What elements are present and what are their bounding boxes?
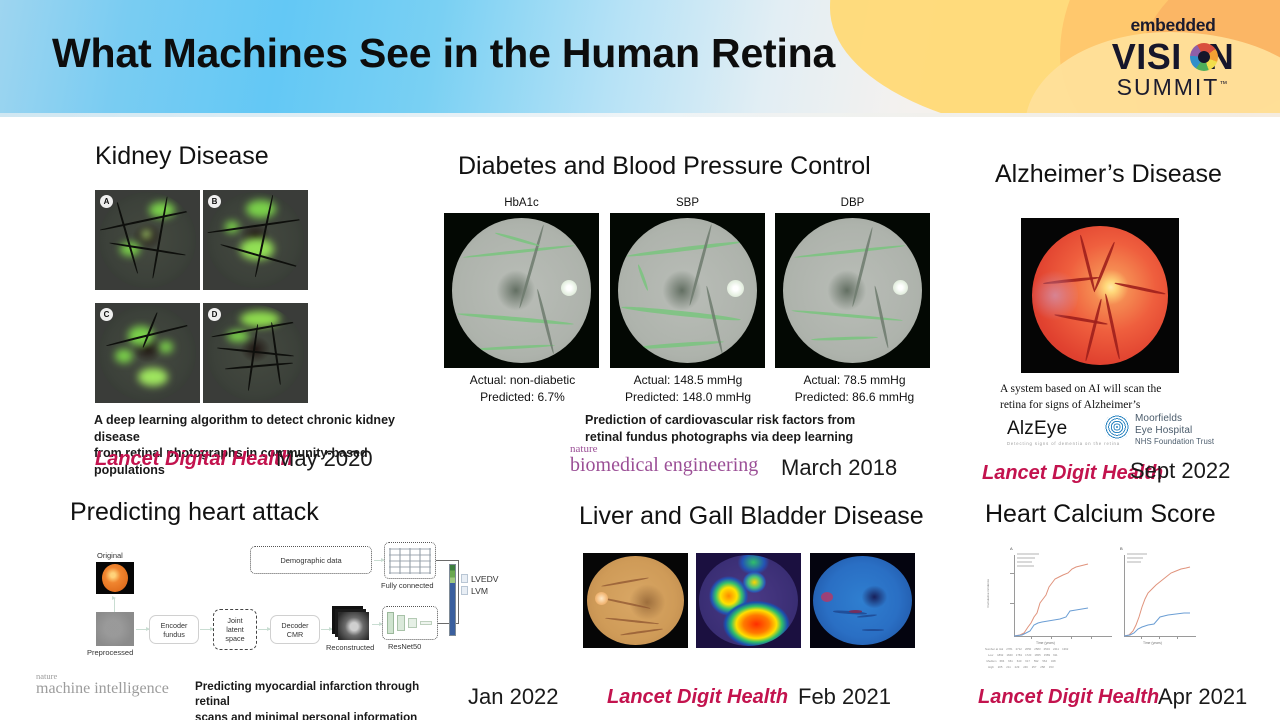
diabetes-caption-line1: Prediction of cardiovascular risk factor…: [585, 412, 915, 429]
kidney-panel-c: C: [95, 303, 200, 403]
liver-fundus-blue: [810, 553, 915, 648]
kidney-panel-b: B: [203, 190, 308, 290]
panel-label-b: B: [208, 195, 221, 208]
alzeye-tagline: Detecting signs of dementia on the retin…: [1007, 441, 1120, 446]
biomedical-engineering-wordmark: biomedical engineering: [570, 455, 758, 476]
liver-date: Feb 2021: [798, 684, 891, 710]
diagram-thumb-reconstructed: [332, 606, 370, 640]
kidney-date: May 2020: [276, 446, 373, 472]
alzheimers-fundus-image: [1021, 218, 1179, 373]
panel-label-a: A: [100, 195, 113, 208]
diagram-label-resnet50: ResNet50: [388, 642, 421, 651]
section-title-liver: Liver and Gall Bladder Disease: [579, 502, 924, 531]
section-title-alzheimers: Alzheimer’s Disease: [995, 160, 1222, 189]
kidney-journal: Lancet Digital Health: [95, 448, 293, 471]
diabetes-fundus-hba1c: [444, 213, 599, 368]
diabetes-actual-sbp: Actual: 148.5 mmHg: [604, 372, 772, 389]
diabetes-actual-hba1c: Actual: non-diabetic: [440, 372, 605, 389]
diagram-label-reconstructed: Reconstructed: [326, 643, 374, 652]
diagram-box-encoder: Encoder fundus: [149, 615, 199, 644]
km-panel-a-label: A: [1010, 546, 1013, 551]
calcium-date: Apr 2021: [1158, 684, 1247, 710]
alzeye-wordmark: AlzEye: [1007, 418, 1120, 440]
alzheimers-date: Sept 2022: [1130, 458, 1230, 484]
moorfields-line1: Moorfields: [1135, 413, 1214, 425]
moorfields-ring-icon: [1104, 414, 1130, 440]
diagram-legend-swatch-lvedv: [461, 574, 468, 583]
km-curves-a: [1014, 555, 1114, 637]
diagram-legend-lvedv: LVEDV: [471, 574, 499, 584]
diabetes-predicted-hba1c: Predicted: 6.7%: [440, 389, 605, 406]
kidney-panel-a: A: [95, 190, 200, 290]
km-panel-b-label: B: [1120, 546, 1123, 551]
diagram-legend-lvm: LVM: [471, 586, 488, 596]
moorfields-logo-text: Moorfields Eye Hospital NHS Foundation T…: [1135, 413, 1214, 446]
diabetes-caption-line2: retinal fundus photographs via deep lear…: [585, 429, 915, 446]
heart-attack-journal-logo: nature machine intelligence: [36, 672, 169, 697]
calcium-journal: Lancet Digit Health: [978, 686, 1159, 709]
heart-attack-caption: Predicting myocardial infarction through…: [195, 679, 457, 720]
diabetes-journal-logo: nature biomedical engineering: [570, 444, 758, 476]
diabetes-fundus-sbp: [610, 213, 765, 368]
diabetes-actual-dbp: Actual: 78.5 mmHg: [772, 372, 937, 389]
diagram-box-resnet50: [382, 606, 438, 640]
header-divider: [0, 113, 1280, 117]
diagram-legend-swatch-lvm: [461, 586, 468, 595]
diagram-output-bar: [449, 564, 456, 636]
diabetes-date: March 2018: [781, 455, 897, 481]
km-curves-b: [1124, 555, 1198, 637]
diabetes-result-sbp: Actual: 148.5 mmHg Predicted: 148.0 mmHg: [604, 372, 772, 407]
page-title: What Machines See in the Human Retina: [52, 30, 835, 77]
calcium-km-charts: A Cumulative incidence Time (years) B: [983, 543, 1197, 656]
liver-fundus-original: [583, 553, 688, 648]
diabetes-caption: Prediction of cardiovascular risk factor…: [585, 412, 915, 445]
slide-root: What Machines See in the Human Retina em…: [0, 0, 1280, 720]
diabetes-predicted-dbp: Predicted: 86.6 mmHg: [772, 389, 937, 406]
diabetes-predicted-sbp: Predicted: 148.0 mmHg: [604, 389, 772, 406]
kidney-caption-line1: A deep learning algorithm to detect chro…: [94, 412, 424, 445]
diabetes-label-dbp: DBP: [775, 197, 930, 209]
section-title-diabetes: Diabetes and Blood Pressure Control: [458, 152, 871, 181]
alzheimers-caption-line2: retina for signs of Alzheimer’s: [1000, 398, 1200, 414]
diabetes-fundus-dbp: [775, 213, 930, 368]
liver-fundus-heatmap: [696, 553, 801, 648]
liver-journal: Lancet Digit Health: [607, 686, 788, 709]
km-b-xlabel: Time (years): [1143, 641, 1162, 645]
alzheimers-caption-line1: A system based on AI will scan the: [1000, 382, 1200, 398]
moorfields-line2: Eye Hospital: [1135, 425, 1214, 437]
panel-label-c: C: [100, 308, 113, 321]
heart-attack-caption-line1: Predicting myocardial infarction through…: [195, 679, 457, 710]
section-title-calcium: Heart Calcium Score: [985, 500, 1216, 529]
km-a-xlabel: Time (years): [1036, 641, 1055, 645]
heart-attack-caption-line2: scans and minimal personal information: [195, 710, 457, 720]
diagram-thumb-preprocessed: [96, 612, 134, 646]
alzheimers-caption: A system based on AI will scan the retin…: [1000, 382, 1200, 413]
logo-embedded-text: embedded: [1098, 17, 1248, 35]
diagram-box-decoder: Decoder CMR: [270, 615, 320, 644]
diabetes-label-sbp: SBP: [610, 197, 765, 209]
diagram-box-latent-space: Joint latent space: [213, 609, 257, 650]
color-wheel-icon: [1190, 43, 1218, 71]
km-risk-table: Number at risk 2781 2712 2650 2583 2504 …: [985, 647, 1068, 670]
km-a-ylabel: Cumulative incidence: [986, 579, 990, 608]
panel-label-d: D: [208, 308, 221, 321]
kidney-panel-d: D: [203, 303, 308, 403]
diagram-box-demographic-data: Demographic data: [250, 546, 372, 574]
machine-intelligence-wordmark: machine intelligence: [36, 681, 169, 698]
diagram-label-original: Original: [97, 551, 123, 560]
heart-attack-date: Jan 2022: [468, 684, 559, 710]
diabetes-result-dbp: Actual: 78.5 mmHg Predicted: 86.6 mmHg: [772, 372, 937, 407]
diabetes-label-hba1c: HbA1c: [444, 197, 599, 209]
logo-summit-text: SUMMIT™: [1098, 76, 1248, 99]
diagram-label-preprocessed: Preprocessed: [87, 648, 133, 657]
section-title-heart-attack: Predicting heart attack: [70, 498, 319, 527]
diagram-label-fully-connected: Fully connected: [381, 581, 434, 590]
embedded-vision-summit-logo: embedded VISIN SUMMIT™: [1098, 17, 1248, 99]
alzeye-logo: AlzEye Detecting signs of dementia on th…: [1007, 418, 1120, 446]
diagram-box-fully-connected: [384, 542, 436, 579]
section-title-kidney: Kidney Disease: [95, 142, 269, 171]
moorfields-line3: NHS Foundation Trust: [1135, 437, 1214, 446]
diagram-thumb-original: [96, 562, 134, 594]
diabetes-result-hba1c: Actual: non-diabetic Predicted: 6.7%: [440, 372, 605, 407]
heart-attack-architecture-diagram: Original Preprocessed Encoder fundus Joi…: [78, 540, 473, 665]
logo-vision-row: VISIN: [1098, 36, 1248, 78]
